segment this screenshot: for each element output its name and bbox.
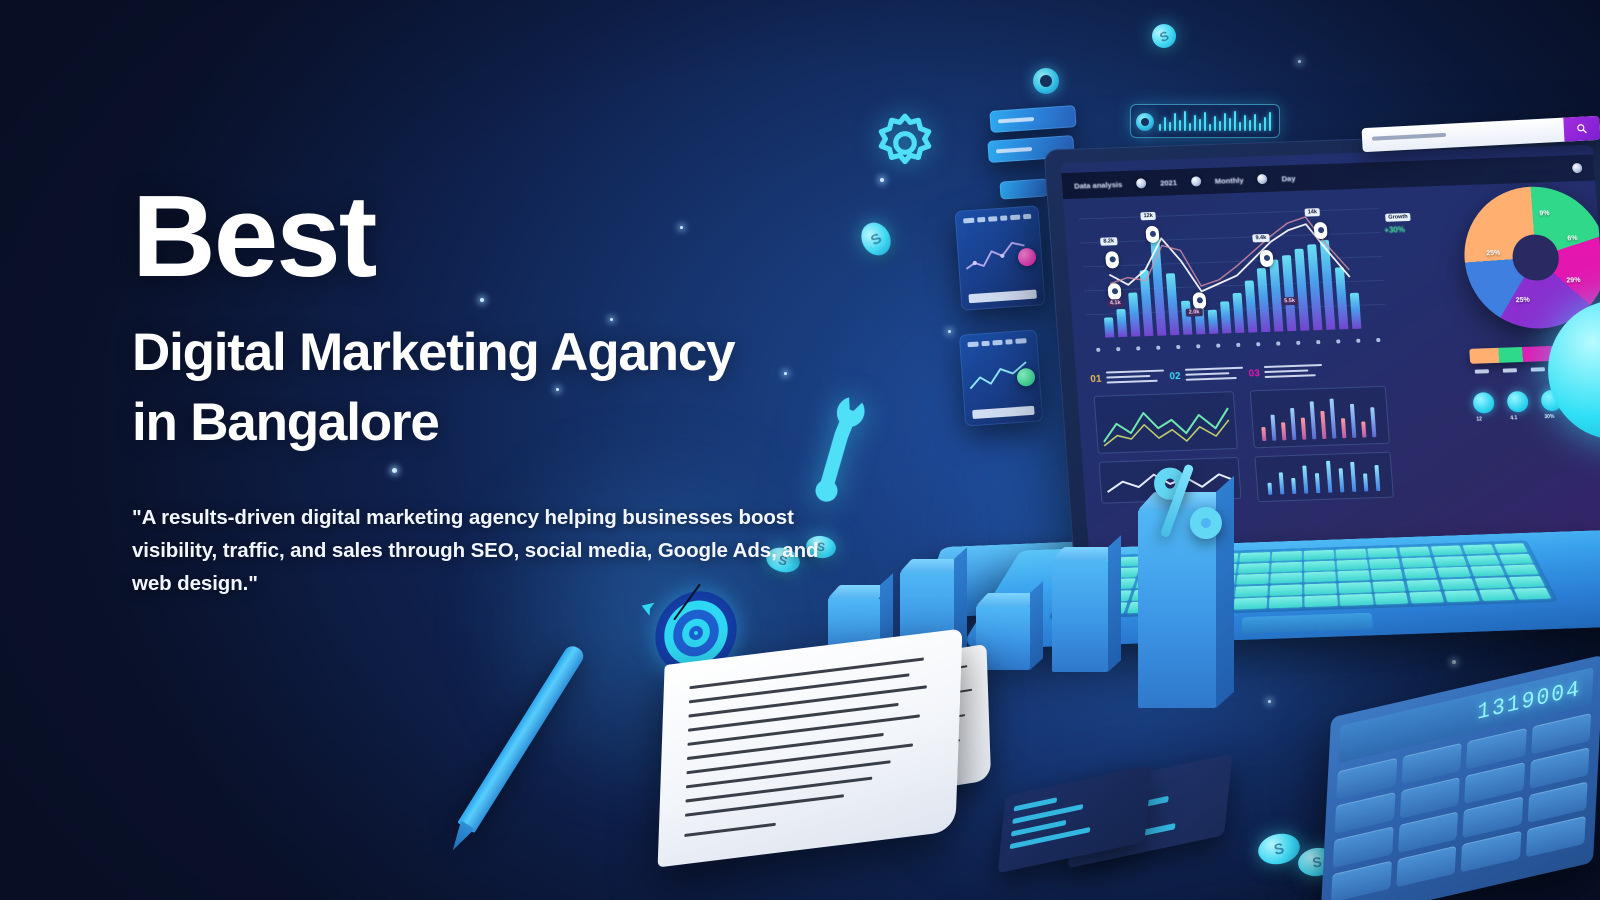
gauge-label-3: 30%	[1544, 414, 1554, 420]
chart-node	[1192, 292, 1206, 309]
chart-node	[1313, 222, 1327, 239]
donut-label-1: 9%	[1539, 210, 1550, 217]
area-chart-panel	[1094, 391, 1238, 454]
chart-node	[1145, 226, 1159, 243]
bar-3d	[1052, 560, 1108, 672]
hero-subheadline-line1: Digital Marketing Agancy	[132, 318, 852, 388]
chart-tag: 14k	[1304, 208, 1320, 217]
donut-label-3: 29%	[1566, 277, 1581, 284]
chart-tag: 4.1k	[1107, 299, 1124, 308]
toolbar-icon-year[interactable]	[1136, 178, 1147, 188]
gauge-label-1: 12	[1476, 416, 1482, 422]
hero-subheadline: Digital Marketing Agancy in Bangalore	[132, 318, 852, 459]
chart-trend-lines	[1078, 198, 1387, 326]
list-text-3	[1264, 363, 1323, 380]
list-text-2	[1185, 366, 1244, 383]
bar-3d	[1138, 510, 1216, 708]
toolbar-item-title: Data analysis	[1074, 180, 1123, 191]
chart-node	[1259, 250, 1273, 267]
chart-tag: 2.0k	[1185, 308, 1202, 317]
donut-label-4: 25%	[1516, 297, 1531, 304]
gauge-label-2: 4.1	[1510, 415, 1517, 421]
laptop-keyboard[interactable]	[1048, 540, 1559, 619]
hero-copy: Best Digital Marketing Agancy in Bangalo…	[132, 178, 852, 601]
chart-node	[1105, 251, 1119, 268]
bar-chart	[1251, 387, 1389, 448]
toolbar-item-period[interactable]: Monthly	[1215, 175, 1244, 185]
area-chart	[1095, 392, 1237, 454]
toolbar-icon-settings[interactable]	[1572, 163, 1583, 173]
donut-label-2: 6%	[1567, 235, 1578, 242]
search-button[interactable]	[1563, 116, 1600, 142]
bar-chart	[1256, 453, 1393, 502]
list-number-1: 01	[1090, 373, 1102, 384]
list-number-2: 02	[1169, 370, 1181, 381]
gauge-widget	[1472, 392, 1495, 414]
search-icon	[1576, 122, 1589, 135]
list-number-3: 03	[1248, 368, 1260, 379]
main-combo-chart: 8.2k 12k 4.1k 2.0k 9.4k 14k 5.5k	[1078, 198, 1389, 356]
toolbar-icon-period[interactable]	[1190, 176, 1201, 186]
toolbar-icon-day[interactable]	[1257, 174, 1268, 184]
waveform-icon	[1136, 113, 1154, 131]
chart-tag: 5.5k	[1281, 297, 1298, 306]
hero-body-text: "A results-driven digital marketing agen…	[132, 501, 822, 601]
laptop-lid: Data analysis 2021 Monthly Day	[1043, 130, 1600, 568]
list-text-1	[1106, 369, 1165, 386]
laptop-trackpad[interactable]	[1241, 613, 1374, 634]
hero-banner: Best Digital Marketing Agancy in Bangalo…	[0, 0, 1600, 900]
donut-label-5: 25%	[1486, 250, 1501, 257]
chart-tag: 9.4k	[1252, 234, 1269, 243]
chart-x-axis-dots	[1088, 338, 1388, 352]
growth-label: Growth	[1385, 213, 1411, 222]
document-sheet-back	[658, 629, 963, 868]
chart-node	[1107, 283, 1121, 300]
numbered-list-row: 01 02 03	[1090, 358, 1392, 390]
bar-chart-panel-2	[1254, 452, 1393, 503]
toolbar-item-day[interactable]: Day	[1281, 173, 1295, 182]
waveform-bars	[1159, 111, 1273, 131]
chart-tag: 12k	[1140, 212, 1156, 221]
page-title: Best	[132, 178, 852, 294]
bar-chart-panel-1	[1250, 386, 1390, 449]
gear-icon	[872, 110, 938, 176]
hero-subheadline-line2: in Bangalore	[132, 388, 852, 458]
toolbar-item-year[interactable]: 2021	[1160, 178, 1177, 188]
search-input[interactable]	[1372, 133, 1446, 141]
gauge-widget	[1506, 391, 1529, 413]
waveform-panel	[1130, 104, 1280, 138]
chart-tag: 8.2k	[1100, 237, 1117, 246]
laptop-screen: Data analysis 2021 Monthly Day	[1060, 145, 1600, 553]
donut-chart: 9% 6% 29% 25% 25%	[1459, 184, 1600, 331]
growth-badge: +30%	[1384, 225, 1405, 235]
